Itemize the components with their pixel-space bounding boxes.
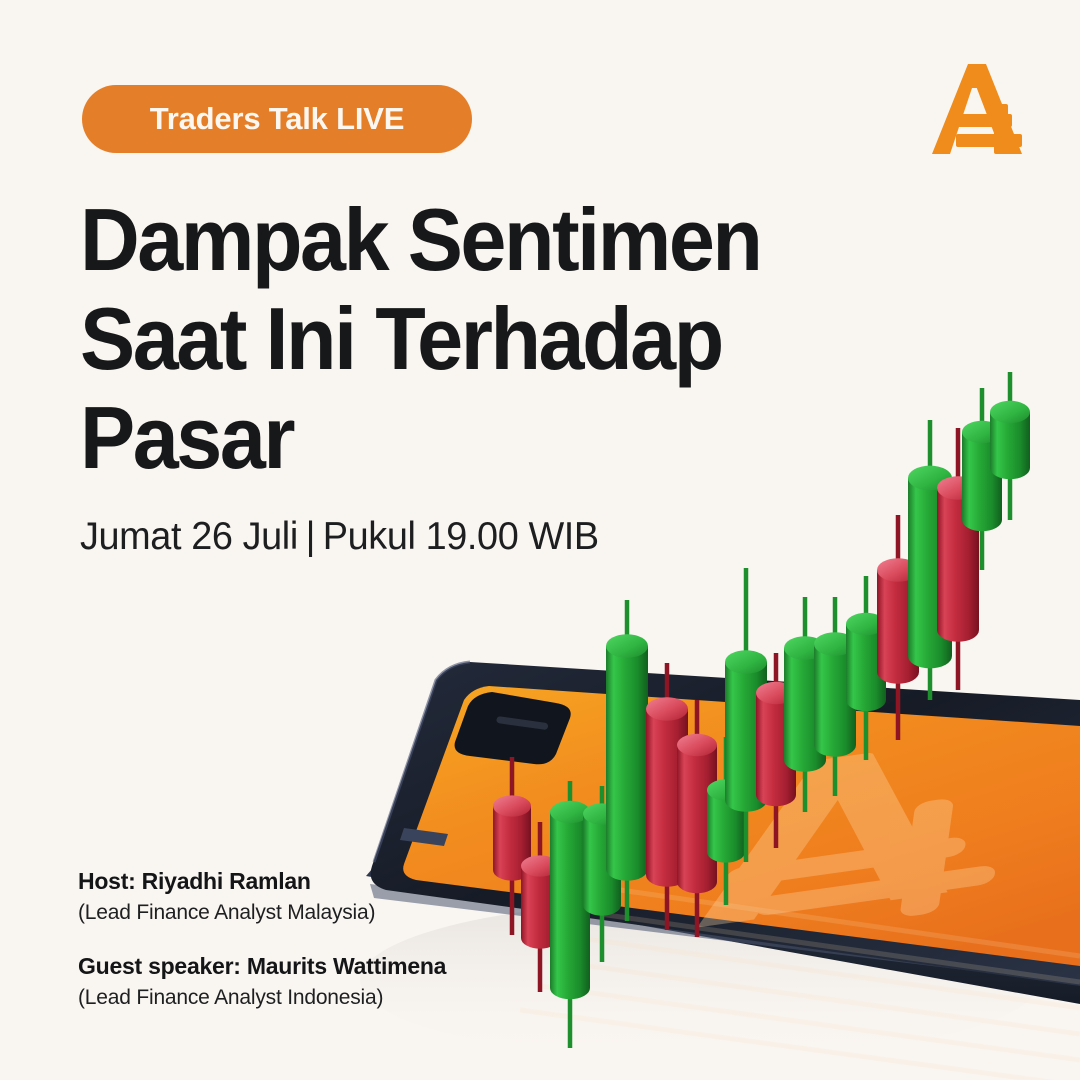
headline-line-1: Dampak Sentimen [80,190,757,289]
brand-logo-icon [928,58,1032,162]
headline-line-2: Saat Ini Terhadap [80,289,757,388]
credits-block: Host: Riyadhi Ramlan (Lead Finance Analy… [78,868,446,1038]
schedule-time: Pukul 19.00 WIB [323,515,599,558]
credit-host: Host: Riyadhi Ramlan (Lead Finance Analy… [78,868,446,925]
credit-host-role: (Lead Finance Analyst Malaysia) [78,901,446,925]
credit-guest-name: Guest speaker: Maurits Wattimena [78,953,446,980]
schedule-date: Jumat 26 Juli [80,515,298,558]
poster-canvas: Traders Talk LIVE Dampak Sentimen Saat I… [0,0,1080,1080]
candlestick-5 [606,600,648,921]
schedule-separator: | [298,515,323,558]
credit-host-name: Host: Riyadhi Ramlan [78,868,446,895]
schedule-line: Jumat 26 Juli|Pukul 19.00 WIB [80,515,599,559]
page-title: Dampak Sentimen Saat Ini Terhadap Pasar [80,190,757,487]
live-badge[interactable]: Traders Talk LIVE [82,85,472,153]
credit-guest-role: (Lead Finance Analyst Indonesia) [78,986,446,1010]
credit-guest: Guest speaker: Maurits Wattimena (Lead F… [78,953,446,1010]
headline-line-3: Pasar [80,388,757,487]
live-badge-label: Traders Talk LIVE [150,101,404,137]
